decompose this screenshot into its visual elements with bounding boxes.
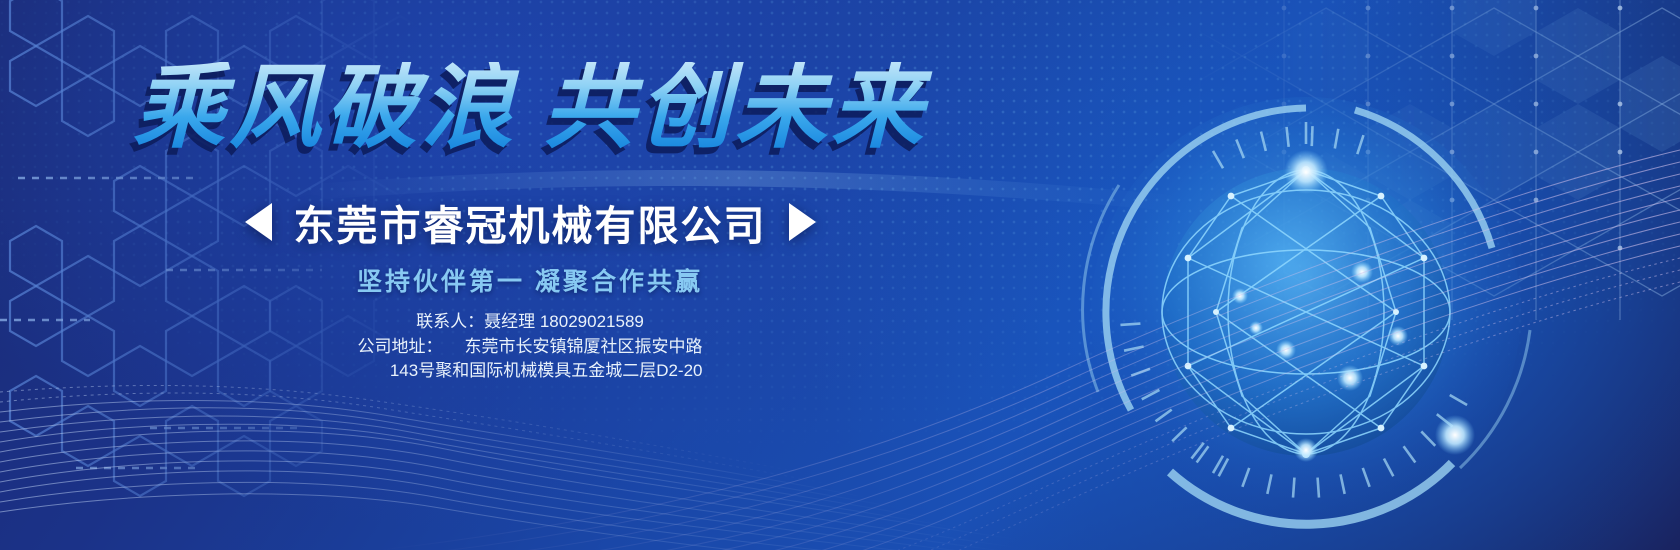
- address-label: 公司地址：: [358, 335, 443, 360]
- contact-person-line: 联系人：聂经理 18029021589: [0, 310, 1060, 335]
- tagline: 坚持伙伴第一 凝聚合作共赢: [0, 262, 1060, 298]
- company-name-row: 东莞市睿冠机械有限公司: [0, 192, 1060, 252]
- left-triangle-icon: [245, 203, 272, 241]
- right-triangle-icon: [789, 203, 816, 241]
- banner-text-block: 乘风破浪共创未来 东莞市睿冠机械有限公司 坚持伙伴第一 凝聚合作共赢 联系人：聂…: [0, 0, 1060, 550]
- company-name: 东莞市睿冠机械有限公司: [294, 192, 767, 252]
- headline-part-2: 共创未来: [543, 57, 927, 159]
- page-title: 乘风破浪共创未来: [0, 62, 1060, 154]
- company-address-line: 公司地址：东莞市长安镇锦厦社区振安中路143号聚和国际机械模具五金城二层D2-2…: [358, 335, 703, 384]
- contact-info: 联系人：聂经理 18029021589 公司地址：东莞市长安镇锦厦社区振安中路1…: [0, 310, 1060, 384]
- headline-part-1: 乘风破浪: [133, 57, 517, 159]
- promo-banner: 乘风破浪共创未来 东莞市睿冠机械有限公司 坚持伙伴第一 凝聚合作共赢 联系人：聂…: [0, 0, 1680, 550]
